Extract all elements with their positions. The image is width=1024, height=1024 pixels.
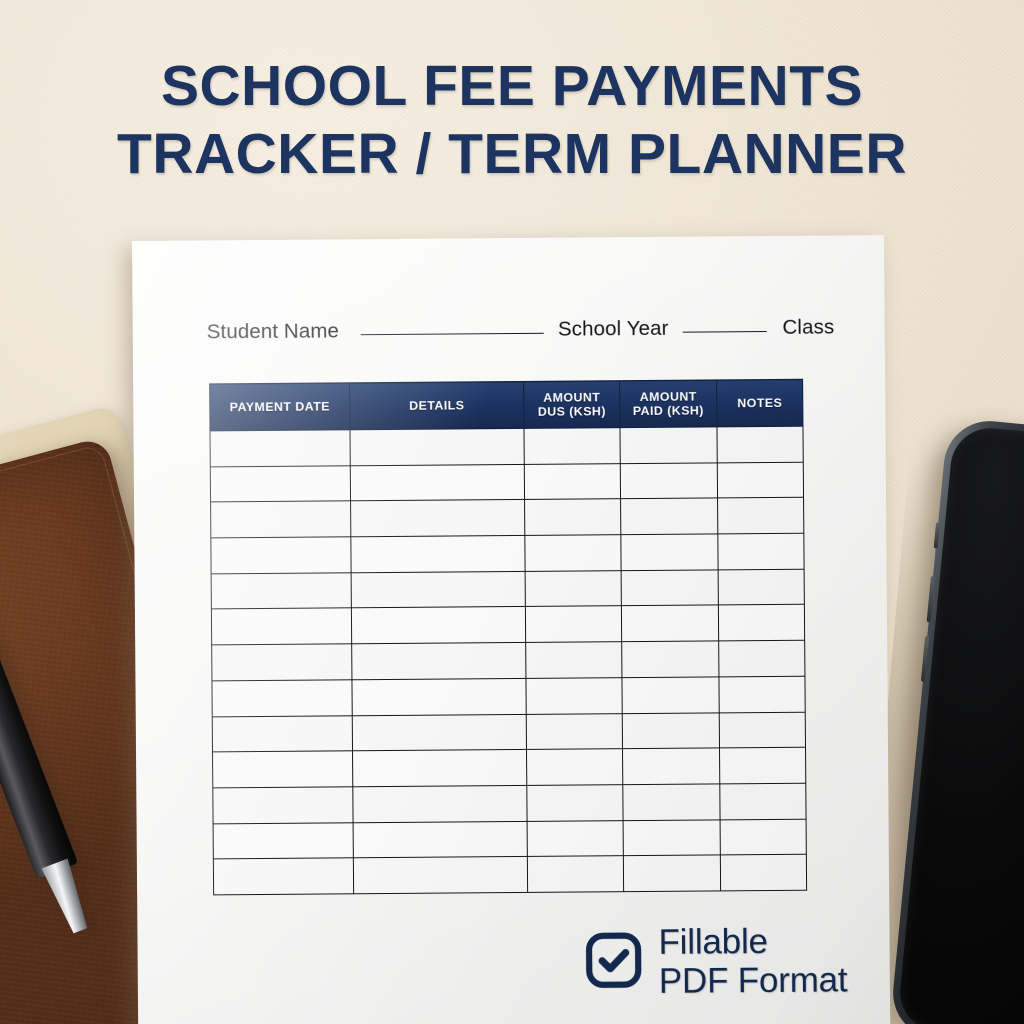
- fee-payments-table: PAYMENT DATE DETAILS AMOUNT DUS (KSH) AM…: [209, 379, 807, 896]
- column-header-details: DETAILS: [350, 381, 524, 429]
- cell-details[interactable]: [352, 643, 526, 680]
- cell-amount_paid[interactable]: [623, 784, 720, 820]
- table-row: [211, 533, 804, 573]
- cell-notes[interactable]: [720, 747, 806, 783]
- cell-notes[interactable]: [719, 640, 805, 676]
- cell-amount_paid[interactable]: [621, 605, 718, 641]
- cell-notes[interactable]: [718, 498, 804, 534]
- cell-payment_date[interactable]: [213, 822, 353, 859]
- table-body: [210, 426, 807, 895]
- student-name-input[interactable]: [361, 333, 544, 335]
- cell-details[interactable]: [351, 535, 525, 572]
- fillable-pdf-badge: Fillable PDF Format: [584, 921, 847, 1001]
- cell-details[interactable]: [352, 714, 526, 751]
- cell-payment_date[interactable]: [212, 680, 352, 717]
- cell-payment_date[interactable]: [210, 430, 350, 467]
- cell-payment_date[interactable]: [210, 465, 350, 502]
- cell-amount_due[interactable]: [527, 749, 623, 785]
- column-header-amount-due: AMOUNT DUS (KSH): [524, 381, 620, 429]
- cell-details[interactable]: [351, 607, 525, 644]
- cell-amount_paid[interactable]: [621, 570, 718, 606]
- class-label: Class: [782, 315, 834, 339]
- cell-amount_due[interactable]: [527, 785, 623, 821]
- cell-amount_due[interactable]: [525, 606, 621, 642]
- table-row: [212, 712, 805, 752]
- cell-amount_paid[interactable]: [621, 534, 718, 570]
- cell-details[interactable]: [350, 464, 524, 501]
- cell-amount_due[interactable]: [526, 677, 622, 713]
- phone-volume-down-button: [921, 636, 929, 682]
- phone-screen: [897, 425, 1024, 1024]
- cell-payment_date[interactable]: [212, 715, 352, 752]
- badge-line-1: Fillable: [658, 921, 847, 961]
- cell-details[interactable]: [353, 785, 527, 822]
- cell-details[interactable]: [350, 428, 524, 465]
- cell-amount_paid[interactable]: [623, 819, 720, 855]
- cell-amount_due[interactable]: [527, 856, 623, 892]
- column-header-amount-paid: AMOUNT PAID (KSH): [620, 380, 717, 428]
- cell-amount_due[interactable]: [525, 535, 621, 571]
- fillable-pdf-badge-text: Fillable PDF Format: [658, 921, 847, 1000]
- column-header-notes: NOTES: [717, 379, 803, 427]
- cell-details[interactable]: [351, 571, 525, 608]
- cell-amount_paid[interactable]: [623, 855, 720, 891]
- cell-details[interactable]: [353, 857, 527, 894]
- cell-amount_paid[interactable]: [620, 463, 717, 499]
- cell-amount_due[interactable]: [525, 499, 621, 535]
- cell-amount_paid[interactable]: [621, 498, 718, 534]
- school-year-label: School Year: [558, 317, 669, 342]
- cell-amount_paid[interactable]: [622, 712, 719, 748]
- page-title-line-1: SCHOOL FEE PAYMENTS: [0, 52, 1024, 120]
- phone-volume-up-button: [927, 576, 935, 622]
- table-row: [211, 498, 804, 538]
- cell-amount_due[interactable]: [524, 463, 620, 499]
- page-title-line-2: TRACKER / TERM PLANNER: [0, 120, 1024, 188]
- table-row: [213, 783, 806, 823]
- table-row: [213, 819, 806, 859]
- printable-sheet: Student Name School Year Class PAYMENT D…: [132, 235, 890, 1024]
- form-fields-row: Student Name School Year Class: [207, 315, 847, 344]
- cell-notes[interactable]: [718, 533, 804, 569]
- cell-payment_date[interactable]: [212, 644, 352, 681]
- table-row: [210, 426, 803, 466]
- cell-notes[interactable]: [718, 605, 804, 641]
- cell-amount_due[interactable]: [524, 428, 620, 464]
- cell-notes[interactable]: [717, 426, 803, 462]
- table-row: [213, 854, 806, 894]
- table-row: [212, 640, 805, 680]
- phone-silent-switch: [934, 522, 940, 548]
- table-row: [213, 747, 806, 787]
- cell-payment_date[interactable]: [213, 751, 353, 788]
- cell-details[interactable]: [353, 821, 527, 858]
- cell-notes[interactable]: [720, 783, 806, 819]
- student-name-label: Student Name: [207, 319, 339, 344]
- school-year-input[interactable]: [683, 331, 767, 333]
- cell-amount_due[interactable]: [526, 642, 622, 678]
- cell-notes[interactable]: [718, 569, 804, 605]
- table-row: [210, 462, 803, 502]
- table-row: [211, 605, 804, 645]
- cell-notes[interactable]: [719, 676, 805, 712]
- cell-amount_due[interactable]: [526, 713, 622, 749]
- page-title: SCHOOL FEE PAYMENTS TRACKER / TERM PLANN…: [0, 52, 1024, 188]
- cell-payment_date[interactable]: [211, 501, 351, 538]
- cell-notes[interactable]: [719, 712, 805, 748]
- cell-notes[interactable]: [720, 819, 806, 855]
- cell-amount_paid[interactable]: [623, 748, 720, 784]
- cell-payment_date[interactable]: [213, 787, 353, 824]
- cell-amount_due[interactable]: [527, 820, 623, 856]
- cell-notes[interactable]: [717, 462, 803, 498]
- table-row: [212, 676, 805, 716]
- desk-scene: SCHOOL FEE PAYMENTS TRACKER / TERM PLANN…: [0, 0, 1024, 1024]
- column-header-payment-date: PAYMENT DATE: [210, 383, 350, 431]
- cell-amount_paid[interactable]: [622, 641, 719, 677]
- badge-line-2: PDF Format: [659, 960, 848, 1000]
- table-header: PAYMENT DATE DETAILS AMOUNT DUS (KSH) AM…: [210, 379, 803, 431]
- cell-amount_paid[interactable]: [620, 427, 717, 463]
- cell-amount_paid[interactable]: [622, 677, 719, 713]
- table-header-row: PAYMENT DATE DETAILS AMOUNT DUS (KSH) AM…: [210, 379, 803, 431]
- checkbox-checked-icon: [584, 931, 642, 994]
- cell-amount_due[interactable]: [525, 570, 621, 606]
- cell-payment_date[interactable]: [211, 573, 351, 610]
- cell-details[interactable]: [351, 500, 525, 537]
- table-row: [211, 569, 804, 609]
- cell-notes[interactable]: [720, 854, 806, 890]
- cell-payment_date[interactable]: [211, 608, 351, 645]
- cell-payment_date[interactable]: [211, 537, 351, 574]
- smartphone: [889, 417, 1024, 1024]
- cell-details[interactable]: [353, 750, 527, 787]
- cell-details[interactable]: [352, 678, 526, 715]
- cell-payment_date[interactable]: [213, 858, 353, 895]
